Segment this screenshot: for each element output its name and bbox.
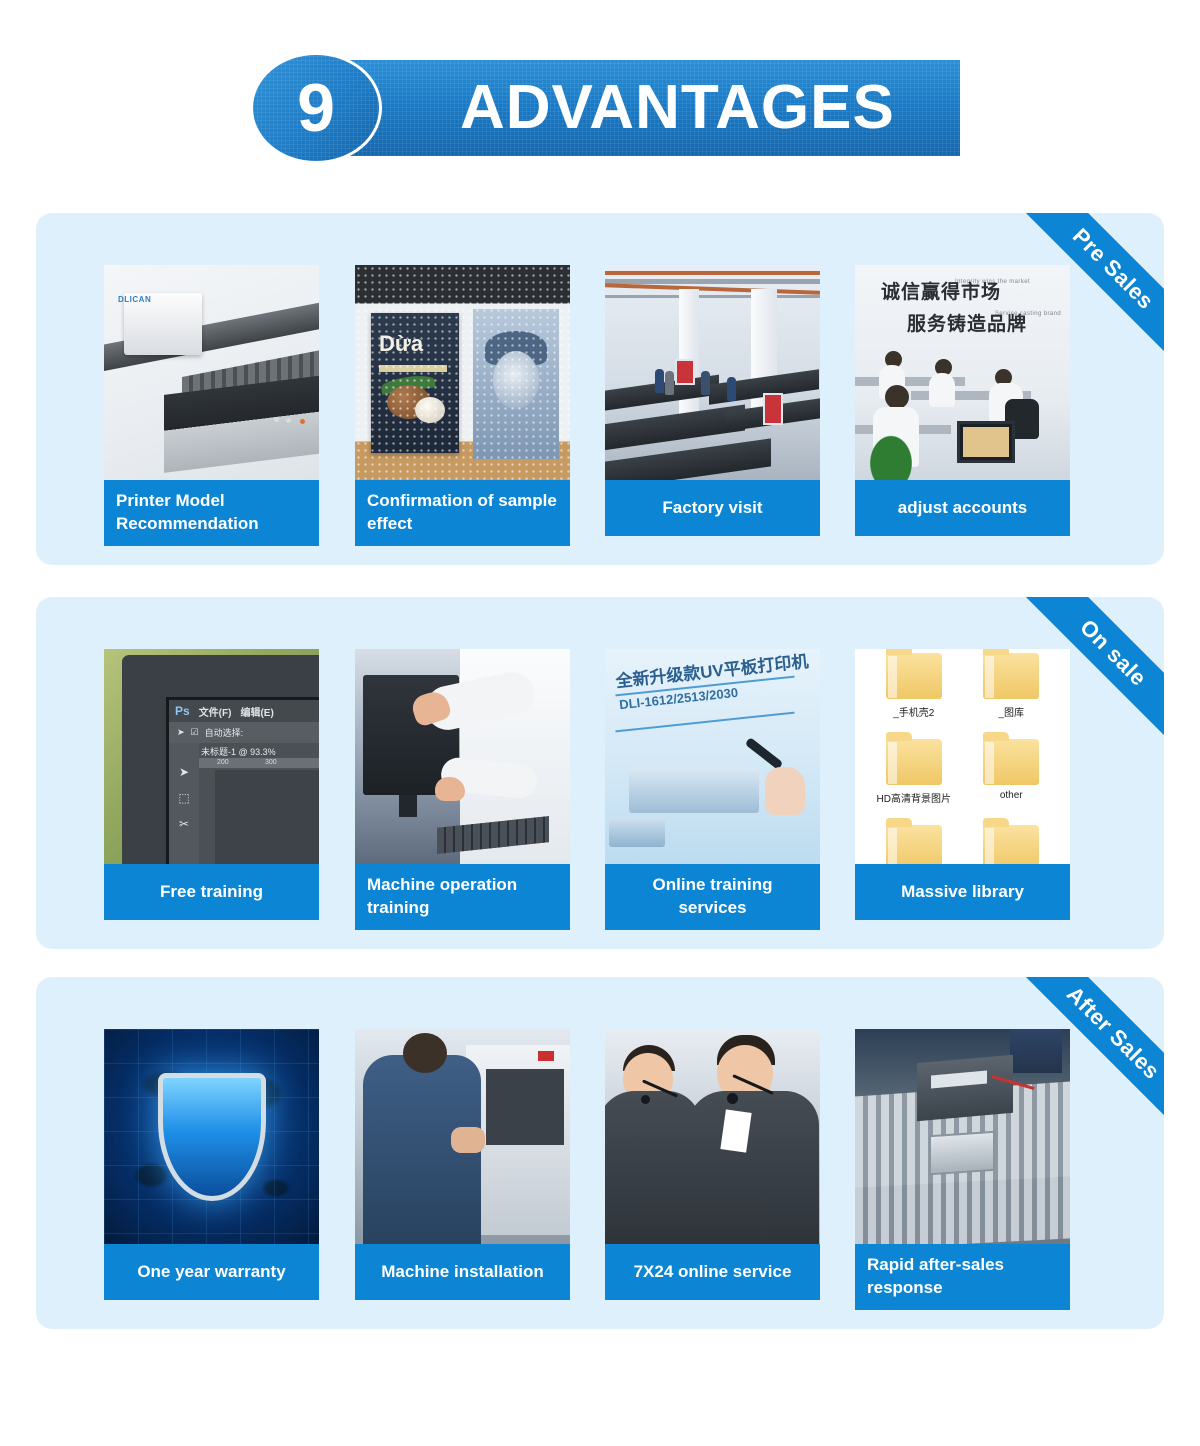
section-after-sales: After Sales One year warranty Machine in… <box>36 977 1164 1329</box>
security-shield-graphic <box>104 1029 319 1244</box>
card-caption: Machine installation <box>355 1244 570 1300</box>
card-7x24-online-service[interactable]: 7X24 online service <box>605 1029 820 1300</box>
page-title: ADVANTAGES <box>460 77 895 139</box>
move-tool-icon: ➤ <box>179 765 189 779</box>
ps-document-tab: 未标题-1 @ 93.3% <box>201 745 276 758</box>
section-on-sale: On sale Ps 文件(F) 编辑(E) ➤ ☑ 自动选择: <box>36 597 1164 949</box>
operator-training-photo <box>355 649 570 864</box>
card-massive-library[interactable]: _手机壳2 _图库 HD高清背景图片 other <box>855 649 1070 920</box>
ps-ruler-mark-a: 200 <box>217 759 229 766</box>
advantage-count-number: 9 <box>297 74 335 142</box>
folder-item[interactable]: _手机壳2 <box>886 653 942 739</box>
folder-label: _图库 <box>998 704 1024 719</box>
card-adjust-accounts[interactable]: Integrity wins the market 诚信赢得市场 Service… <box>855 265 1070 536</box>
folder-icon <box>983 739 1039 785</box>
photoshop-logo-text: Ps <box>175 704 190 718</box>
folder-icon <box>983 653 1039 699</box>
card-confirmation-of-sample-effect[interactable]: Dừa Confirmation of sample effect <box>355 265 570 546</box>
card-caption: Machine operation training <box>355 864 570 930</box>
card-caption: Confirmation of sample effect <box>355 480 570 546</box>
move-tool-icon: ➤ <box>177 727 185 738</box>
photoshop-screen-photo: Ps 文件(F) 编辑(E) ➤ ☑ 自动选择: 未标题-1 @ 93.3% 2… <box>104 649 319 864</box>
advantage-count-badge: 9 <box>250 52 382 164</box>
folder-icon <box>983 825 1039 864</box>
ps-auto-select-label: 自动选择: <box>205 726 244 739</box>
card-one-year-warranty[interactable]: One year warranty <box>104 1029 319 1300</box>
card-caption: Rapid after-sales response <box>855 1244 1070 1310</box>
card-caption: One year warranty <box>104 1244 319 1300</box>
folder-item[interactable] <box>983 825 1039 864</box>
folder-icon <box>886 739 942 785</box>
lasso-tool-icon: ✂ <box>179 817 189 831</box>
card-caption: Free training <box>104 864 319 920</box>
folder-label: other <box>1000 790 1023 801</box>
office-wall-text-cn-1: 诚信赢得市场 <box>881 277 1001 304</box>
ps-menu-file: 文件(F) <box>199 704 232 719</box>
folder-item[interactable]: other <box>983 739 1039 825</box>
page-header: ADVANTAGES 9 <box>250 52 960 164</box>
call-center-agents-photo <box>605 1029 820 1244</box>
card-printer-model-recommendation[interactable]: DLICAN Printer Model Recommendation <box>104 265 319 546</box>
product-presentation-slide-photo: 全新升级款UV平板打印机 DLI-1612/2513/2030 <box>605 649 820 864</box>
card-rapid-after-sales-response[interactable]: Rapid after-sales response <box>855 1029 1070 1310</box>
office-wall-text-cn-2: 服务铸造品牌 <box>907 309 1027 336</box>
uv-flatbed-printer-photo: DLICAN <box>104 265 319 480</box>
card-caption: Factory visit <box>605 480 820 536</box>
folder-icon <box>886 825 942 864</box>
folder-item[interactable]: HD高清背景图片 <box>877 739 951 825</box>
header-banner: ADVANTAGES <box>310 60 960 156</box>
printer-brand-text: DLICAN <box>118 295 151 304</box>
sales-office-photo: Integrity wins the market 诚信赢得市场 Service… <box>855 265 1070 480</box>
ps-menu-edit: 编辑(E) <box>240 704 273 719</box>
folder-item[interactable]: _图库 <box>983 653 1039 739</box>
card-caption: Online training services <box>605 864 820 930</box>
section-pre-sales: Pre Sales DLICAN Printer Model Recommend… <box>36 213 1164 565</box>
ps-ruler: 200 300 <box>199 758 319 768</box>
checkbox-icon: ☑ <box>191 727 199 738</box>
folder-icon <box>886 653 942 699</box>
printed-sample-panels-photo: Dừa <box>355 265 570 480</box>
advantages-page: ADVANTAGES 9 Pre Sales DLICAN Printer Mo… <box>0 0 1200 1446</box>
folder-item[interactable] <box>886 825 942 864</box>
card-factory-visit[interactable]: Factory visit <box>605 265 820 536</box>
card-free-training[interactable]: Ps 文件(F) 编辑(E) ➤ ☑ 自动选择: 未标题-1 @ 93.3% 2… <box>104 649 319 920</box>
technician-assembly-photo <box>355 1029 570 1244</box>
marquee-tool-icon: ⬚ <box>178 791 189 805</box>
card-caption: Printer Model Recommendation <box>104 480 319 546</box>
card-machine-operation-training[interactable]: Machine operation training <box>355 649 570 930</box>
ps-ruler-mark-b: 300 <box>265 759 277 766</box>
folder-label: _手机壳2 <box>893 704 934 719</box>
factory-floor-photo <box>605 265 820 480</box>
card-caption: adjust accounts <box>855 480 1070 536</box>
card-machine-installation[interactable]: Machine installation <box>355 1029 570 1300</box>
folder-label: HD高清背景图片 <box>877 790 951 805</box>
card-caption: Massive library <box>855 864 1070 920</box>
electronics-assembly-photo <box>855 1029 1070 1244</box>
card-online-training-services[interactable]: 全新升级款UV平板打印机 DLI-1612/2513/2030 Online t… <box>605 649 820 930</box>
card-caption: 7X24 online service <box>605 1244 820 1300</box>
image-library-folders-screenshot: _手机壳2 _图库 HD高清背景图片 other <box>855 649 1070 864</box>
